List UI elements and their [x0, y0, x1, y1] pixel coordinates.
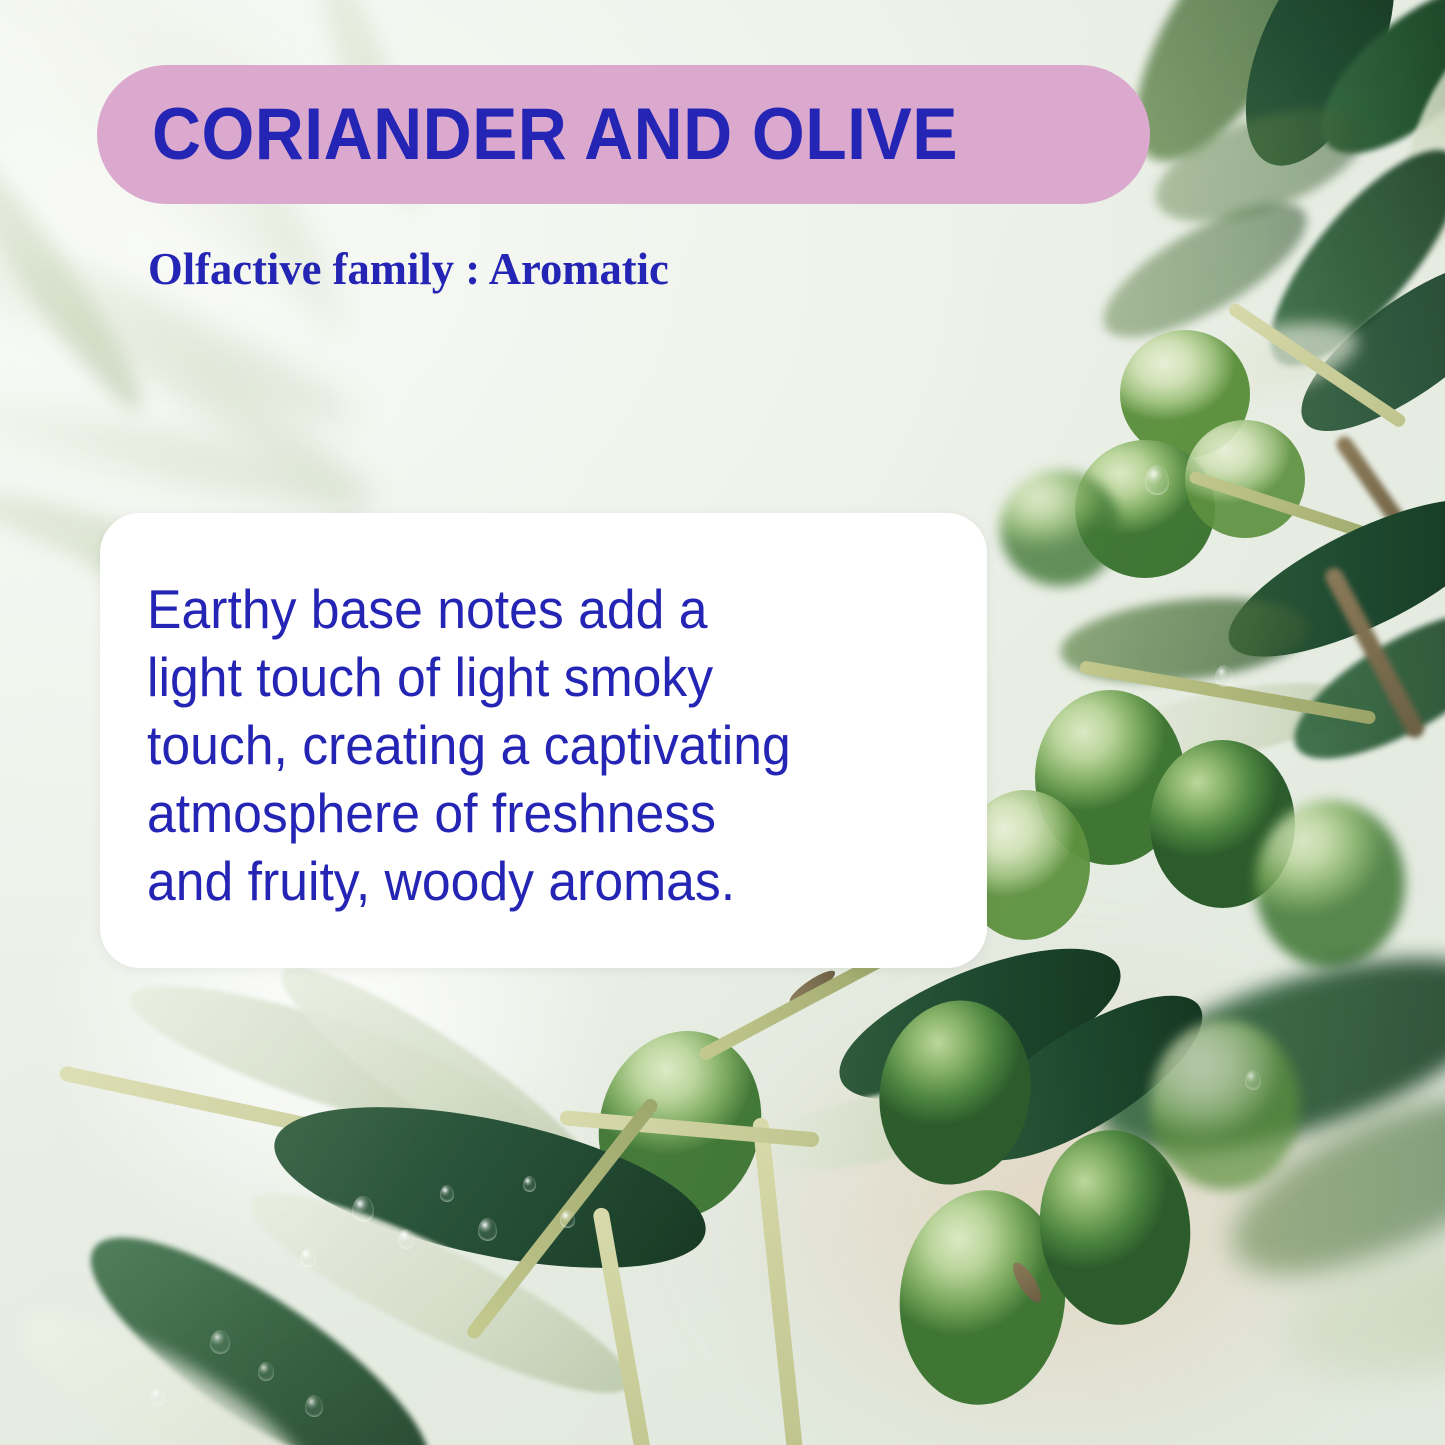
water-droplet: [305, 1395, 323, 1417]
olive-fruit: [1255, 800, 1405, 968]
water-droplet: [352, 1196, 374, 1222]
water-droplet: [478, 1218, 497, 1241]
water-droplet: [300, 1248, 316, 1267]
water-droplet: [1245, 1070, 1261, 1090]
title-banner: CORIANDER AND OLIVE: [97, 65, 1150, 204]
water-droplet: [523, 1176, 536, 1192]
water-droplet: [258, 1362, 274, 1381]
water-droplet: [210, 1330, 230, 1354]
water-droplet: [1215, 665, 1233, 687]
description-card: Earthy base notes add a light touch of l…: [100, 513, 987, 968]
poster-canvas: CORIANDER AND OLIVE Olfactive family : A…: [0, 0, 1445, 1445]
page-title: CORIANDER AND OLIVE: [152, 98, 958, 171]
water-droplet: [440, 1185, 454, 1202]
water-droplet: [560, 1210, 575, 1228]
description-text: Earthy base notes add a light touch of l…: [147, 575, 908, 915]
olfactive-family-subtitle: Olfactive family : Aromatic: [148, 246, 669, 292]
water-droplet: [150, 1388, 165, 1406]
olive-fruit: [1000, 470, 1120, 586]
water-droplet: [398, 1229, 415, 1249]
olive-fruit: [1150, 1020, 1300, 1190]
water-droplet: [1145, 465, 1169, 495]
